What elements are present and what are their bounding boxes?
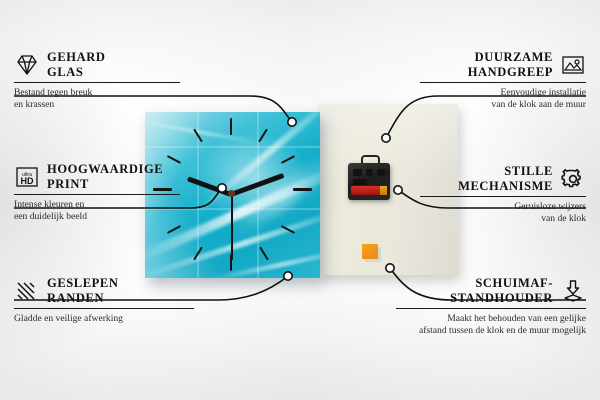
- feature-title-line2: GLAS: [47, 65, 105, 80]
- callout-foam-spacer: SCHUIMAF- STANDHOUDER Maakt het behouden…: [396, 276, 586, 336]
- divider: [14, 82, 180, 83]
- callout-hd-print: ultra HD HOOGWAARDIGE PRINT Intense kleu…: [14, 162, 180, 222]
- feature-title-line2: MECHANISME: [458, 179, 553, 194]
- foam-spacer: [362, 244, 378, 259]
- hour-tick-8: [167, 225, 181, 234]
- hour-tick-1: [258, 129, 268, 143]
- feature-caption-line2: afstand tussen de klok en de muur mogeli…: [396, 325, 586, 337]
- infographic-canvas: GEHARD GLAS Bestand tegen breuk en krass…: [0, 0, 600, 400]
- feature-title-line1: HOOGWAARDIGE: [47, 162, 163, 177]
- feature-caption-line2: een duidelijk beeld: [14, 211, 180, 223]
- second-hand: [231, 194, 233, 260]
- mechanism-detail: [377, 169, 385, 176]
- feature-title-line1: DUURZAME: [468, 50, 553, 65]
- hour-tick-5: [259, 247, 269, 261]
- diamond-icon: [14, 53, 40, 77]
- feature-caption-line2: en krassen: [14, 99, 180, 111]
- diagonal-lines-icon: [14, 279, 40, 303]
- glass-pane-line: [145, 146, 320, 148]
- divider: [396, 308, 586, 309]
- feature-title-line1: SCHUIMAF-: [450, 276, 553, 291]
- feature-caption-line2: van de klok aan de muur: [420, 99, 586, 111]
- feature-title-line2: HANDGREEP: [468, 65, 553, 80]
- feature-title-line2: RANDEN: [47, 291, 119, 306]
- feature-caption-line1: Gladde en veilige afwerking: [14, 313, 194, 325]
- feature-title-line2: PRINT: [47, 177, 163, 192]
- callout-durable-hanger: DUURZAME HANDGREEP Eenvoudige installati…: [420, 50, 586, 110]
- mechanism-detail: [353, 179, 367, 185]
- feature-caption-line1: Intense kleuren en: [14, 199, 180, 211]
- feature-caption-line1: Geruisloze wijzers: [420, 201, 586, 213]
- divider: [420, 196, 586, 197]
- clock-hub: [228, 190, 235, 197]
- feature-title-line1: GEHARD: [47, 50, 105, 65]
- divider: [420, 82, 586, 83]
- battery: [351, 186, 387, 195]
- mechanism-detail: [353, 169, 362, 176]
- divider: [14, 194, 180, 195]
- feature-title-line1: STILLE: [458, 164, 553, 179]
- feature-caption-line1: Eenvoudige installatie: [420, 87, 586, 99]
- hour-tick-12: [230, 118, 232, 135]
- feather-streak: [224, 150, 320, 241]
- feature-title-line2: STANDHOUDER: [450, 291, 553, 306]
- callout-silent-mechanism: STILLE MECHANISME Geruisloze wijzers van…: [420, 164, 586, 224]
- callout-tempered-glass: GEHARD GLAS Bestand tegen breuk en krass…: [14, 50, 180, 110]
- feature-caption-line2: van de klok: [420, 213, 586, 225]
- mechanism-detail: [366, 169, 373, 176]
- framed-picture-icon: [560, 53, 586, 77]
- glass-pane-line: [257, 112, 259, 278]
- hour-tick-2: [281, 155, 295, 164]
- gear-icon: [560, 167, 586, 191]
- hour-tick-3: [293, 188, 312, 191]
- feature-caption-line1: Maakt het behouden van een gelijke: [396, 313, 586, 325]
- divider: [14, 308, 194, 309]
- feature-caption-line1: Bestand tegen breuk: [14, 87, 180, 99]
- ultra-hd-icon-large-text: HD: [21, 176, 34, 186]
- ultra-hd-icon: ultra HD: [14, 165, 40, 189]
- arrow-down-onto-block-icon: [560, 279, 586, 303]
- feature-title-line1: GESLEPEN: [47, 276, 119, 291]
- callout-polished-edges: GESLEPEN RANDEN Gladde en veilige afwerk…: [14, 276, 194, 325]
